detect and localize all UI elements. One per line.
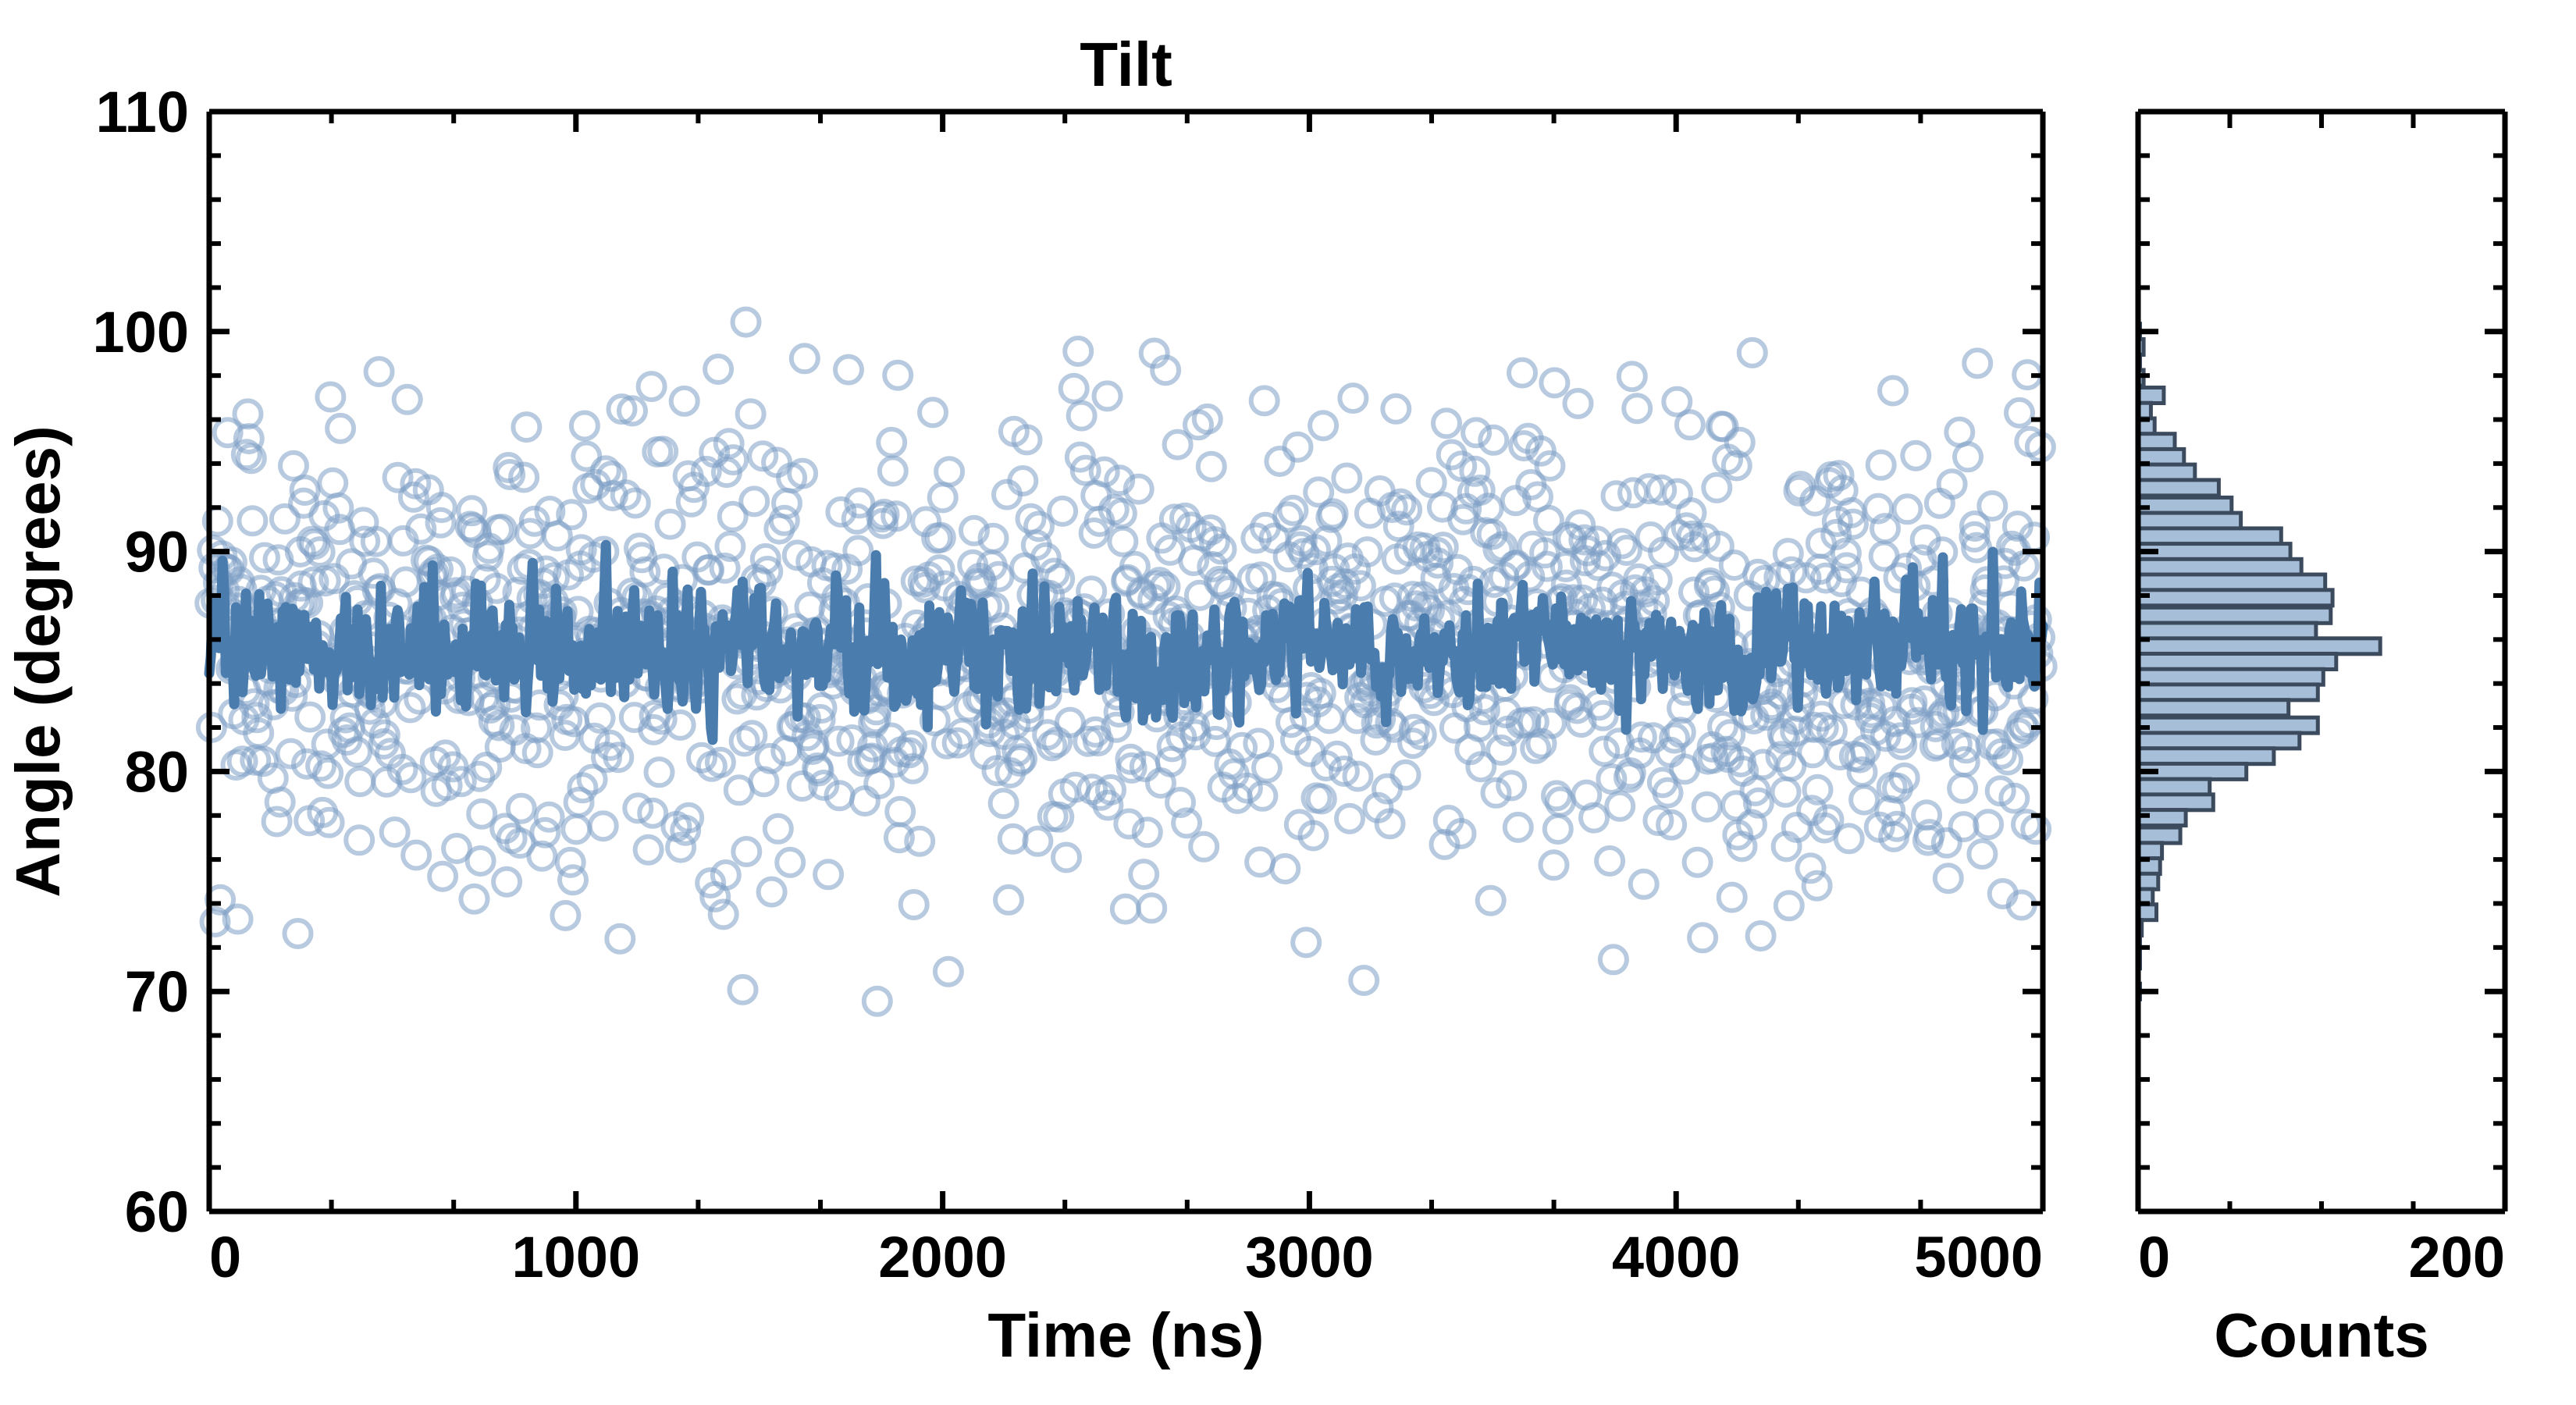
scatter-point bbox=[635, 837, 662, 863]
scatter-point bbox=[1382, 396, 1409, 422]
scatter-point bbox=[1677, 411, 1703, 438]
x-tick-label: 1000 bbox=[511, 1225, 640, 1289]
scatter-point bbox=[1703, 475, 1730, 501]
histogram-bar bbox=[2138, 528, 2281, 544]
scatter-point bbox=[1069, 403, 1095, 429]
histogram-bar bbox=[2138, 497, 2232, 513]
histogram-bar bbox=[2138, 544, 2290, 560]
x-axis-title: Time (ns) bbox=[987, 1300, 1264, 1370]
scatter-point bbox=[382, 819, 408, 845]
scatter-point bbox=[1927, 490, 1953, 517]
histogram-bar bbox=[2138, 388, 2164, 404]
histogram-bar bbox=[2138, 654, 2336, 670]
scatter-point bbox=[1902, 443, 1929, 469]
scatter-point bbox=[1955, 443, 1981, 470]
y-axis-title: Angle (degrees) bbox=[3, 425, 73, 898]
scatter-point bbox=[1851, 787, 1877, 813]
scatter-point bbox=[901, 891, 927, 918]
histogram-bar bbox=[2138, 669, 2323, 685]
scatter-point bbox=[1194, 406, 1221, 432]
scatter-point bbox=[1964, 350, 1991, 376]
histogram-bar bbox=[2138, 434, 2175, 450]
scatter-point bbox=[319, 470, 346, 496]
scatter-point bbox=[741, 488, 767, 514]
scatter-point bbox=[267, 789, 294, 816]
histogram-bar bbox=[2138, 574, 2325, 590]
histogram-bar bbox=[2138, 607, 2331, 623]
scatter-point bbox=[1798, 855, 1824, 881]
scatter-point bbox=[792, 345, 818, 372]
scatter-point bbox=[1049, 498, 1076, 525]
histogram-bar bbox=[2138, 779, 2210, 795]
scatter-point bbox=[774, 490, 800, 517]
scatter-point bbox=[1509, 360, 1535, 386]
scatter-point bbox=[1247, 848, 1273, 875]
histogram-bar bbox=[2138, 513, 2241, 528]
scatter-point bbox=[864, 988, 891, 1015]
scatter-point bbox=[878, 429, 905, 456]
scatter-point bbox=[2011, 553, 2037, 579]
histogram-bar bbox=[2138, 590, 2332, 606]
scatter-point bbox=[1979, 493, 2005, 519]
scatter-point bbox=[560, 866, 586, 893]
scatter-point bbox=[705, 356, 731, 382]
scatter-point bbox=[1293, 929, 1319, 955]
histogram-bar bbox=[2138, 717, 2318, 733]
scatter-point bbox=[1836, 825, 1863, 852]
scatter-point bbox=[765, 816, 792, 842]
scatter-point bbox=[297, 704, 323, 731]
scatter-point bbox=[590, 813, 617, 839]
scatter-point bbox=[1254, 755, 1280, 781]
scatter-point bbox=[1433, 410, 1460, 436]
histogram-bar bbox=[2138, 733, 2300, 749]
scatter-point bbox=[346, 827, 372, 853]
scatter-point bbox=[403, 842, 429, 869]
scatter-point bbox=[733, 309, 760, 336]
scatter-point bbox=[493, 869, 520, 895]
scatter-point bbox=[639, 373, 665, 400]
x-tick-label: 2000 bbox=[878, 1225, 1007, 1289]
scatter-point bbox=[1065, 338, 1091, 365]
scatter-point bbox=[508, 795, 535, 822]
histogram-bar bbox=[2138, 638, 2380, 654]
scatter-point bbox=[1773, 779, 1799, 806]
scatter-point bbox=[1624, 395, 1650, 421]
plot-svg: 01000200030004000500060708090100110Time … bbox=[0, 0, 2576, 1405]
scatter-point bbox=[1024, 828, 1051, 855]
scatter-point bbox=[707, 749, 734, 776]
scatter-point bbox=[563, 816, 589, 842]
scatter-point bbox=[1949, 775, 1976, 802]
y-tick-label: 110 bbox=[96, 80, 189, 144]
scatter-point bbox=[1776, 892, 1802, 919]
scatter-point bbox=[2006, 400, 2033, 426]
page-title: Tilt bbox=[1080, 30, 1172, 99]
hist-x-axis-title: Counts bbox=[2214, 1300, 2429, 1370]
scatter-point bbox=[239, 507, 265, 534]
histogram-bar bbox=[2138, 795, 2213, 810]
scatter-point bbox=[1685, 849, 1711, 876]
scatter-point bbox=[646, 759, 673, 785]
x-tick-label: 5000 bbox=[1914, 1225, 2043, 1289]
scatter-point bbox=[1272, 855, 1298, 882]
histogram-bar bbox=[2138, 749, 2274, 764]
scatter-point bbox=[536, 804, 563, 831]
histogram-bar bbox=[2138, 623, 2316, 638]
scatter-point bbox=[935, 959, 962, 985]
scatter-point bbox=[1748, 923, 1774, 949]
y-tick-label: 70 bbox=[125, 959, 189, 1024]
scatter-point bbox=[1804, 873, 1831, 899]
scatter-point bbox=[1600, 946, 1627, 973]
scatter-point bbox=[347, 768, 373, 795]
scatter-point bbox=[1393, 762, 1419, 788]
scatter-point bbox=[1333, 465, 1360, 492]
scatter-point bbox=[733, 838, 760, 865]
histogram-bars bbox=[2138, 324, 2380, 999]
scatter-point bbox=[1000, 826, 1026, 852]
scatter-point bbox=[1545, 816, 1571, 842]
y-tick-label: 90 bbox=[125, 520, 189, 585]
scatter-point bbox=[1664, 481, 1691, 507]
scatter-point bbox=[1266, 448, 1293, 475]
scatter-point bbox=[1880, 378, 1906, 404]
scatter-point bbox=[1478, 887, 1504, 914]
histogram-bar bbox=[2138, 843, 2162, 859]
y-tick-label: 100 bbox=[93, 300, 189, 365]
scatter-point bbox=[1969, 841, 1995, 867]
scatter-point bbox=[887, 799, 913, 825]
figure-canvas: 01000200030004000500060708090100110Time … bbox=[0, 0, 2576, 1405]
x-tick-label: 3000 bbox=[1245, 1225, 1374, 1289]
scatter-point bbox=[285, 920, 311, 947]
histogram-bar bbox=[2138, 905, 2157, 920]
histogram-bar bbox=[2138, 700, 2289, 716]
scatter-point bbox=[1689, 924, 1716, 951]
scatter-point bbox=[571, 413, 598, 439]
scatter-point bbox=[1336, 806, 1363, 832]
scatter-point bbox=[1112, 896, 1139, 923]
scatter-point bbox=[552, 902, 578, 929]
scatter-point bbox=[671, 388, 698, 414]
scatter-point bbox=[936, 458, 962, 485]
scatter-point bbox=[1895, 496, 1921, 522]
hist-x-tick-label: 0 bbox=[2138, 1225, 2170, 1289]
scatter-point bbox=[607, 926, 633, 952]
scatter-point bbox=[327, 415, 354, 442]
scatter-point bbox=[1596, 848, 1623, 874]
scatter-point bbox=[1619, 363, 1646, 389]
histogram-bar bbox=[2138, 685, 2318, 700]
scatter-point bbox=[1285, 434, 1311, 461]
scatter-point bbox=[1190, 834, 1217, 860]
scatter-point bbox=[995, 887, 1022, 913]
y-tick-label: 80 bbox=[125, 739, 189, 804]
hist-x-tick-label: 200 bbox=[2409, 1225, 2505, 1289]
scatter-point bbox=[884, 362, 911, 389]
histogram-bar bbox=[2138, 464, 2195, 480]
y-tick-label: 60 bbox=[125, 1179, 189, 1244]
scatter-point bbox=[1541, 369, 1567, 396]
scatter-point bbox=[1868, 452, 1895, 478]
scatter-point bbox=[815, 861, 841, 887]
scatter-point bbox=[366, 358, 393, 385]
scatter-point bbox=[1053, 845, 1080, 871]
scatter-point bbox=[880, 457, 906, 484]
histogram-bar bbox=[2138, 559, 2301, 574]
scatter-point bbox=[1094, 382, 1121, 409]
scatter-point bbox=[1138, 895, 1165, 921]
scatter-point bbox=[1130, 861, 1157, 887]
scatter-point bbox=[657, 511, 684, 538]
scatter-point bbox=[991, 790, 1017, 816]
scatter-point bbox=[1505, 814, 1532, 841]
scatter-point bbox=[730, 976, 756, 1003]
scatter-point bbox=[1565, 390, 1592, 417]
histogram-bar bbox=[2138, 827, 2180, 843]
scatter-point bbox=[1935, 865, 1962, 891]
scatter-point bbox=[759, 879, 785, 905]
scatter-point bbox=[1198, 454, 1225, 480]
scatter-point bbox=[1350, 967, 1377, 994]
scatter-point bbox=[317, 384, 343, 411]
histogram-bar bbox=[2138, 873, 2158, 889]
scatter-point bbox=[1694, 794, 1720, 820]
scatter-point bbox=[394, 386, 421, 413]
scatter-point bbox=[513, 414, 539, 440]
scatter-point bbox=[1279, 497, 1306, 524]
scatter-point bbox=[738, 400, 764, 427]
scatter-point bbox=[777, 849, 803, 876]
scatter-point bbox=[1719, 884, 1745, 911]
scatter-point bbox=[429, 863, 456, 890]
x-tick-label: 4000 bbox=[1612, 1225, 1741, 1289]
scatter-point bbox=[1631, 871, 1657, 898]
scatter-point bbox=[930, 484, 956, 510]
scatter-point bbox=[738, 722, 765, 749]
scatter-point bbox=[1061, 375, 1087, 402]
scatter-point bbox=[835, 357, 862, 383]
scatter-point bbox=[1739, 340, 1766, 366]
histogram-bar bbox=[2138, 480, 2218, 496]
scatter-point bbox=[1340, 385, 1366, 411]
scatter-point bbox=[1799, 739, 1826, 766]
scatter-point bbox=[1251, 387, 1278, 414]
scatter-point bbox=[1939, 471, 1966, 497]
scatter-point bbox=[920, 399, 946, 425]
scatter-point bbox=[1310, 412, 1336, 439]
scatter-point bbox=[461, 886, 488, 912]
scatter-point bbox=[1109, 528, 1136, 555]
scatter-point bbox=[1541, 852, 1567, 878]
x-tick-label: 0 bbox=[209, 1225, 241, 1289]
scatter-point bbox=[1606, 793, 1633, 820]
scatter-point bbox=[468, 848, 494, 874]
scatter-point bbox=[852, 788, 878, 814]
